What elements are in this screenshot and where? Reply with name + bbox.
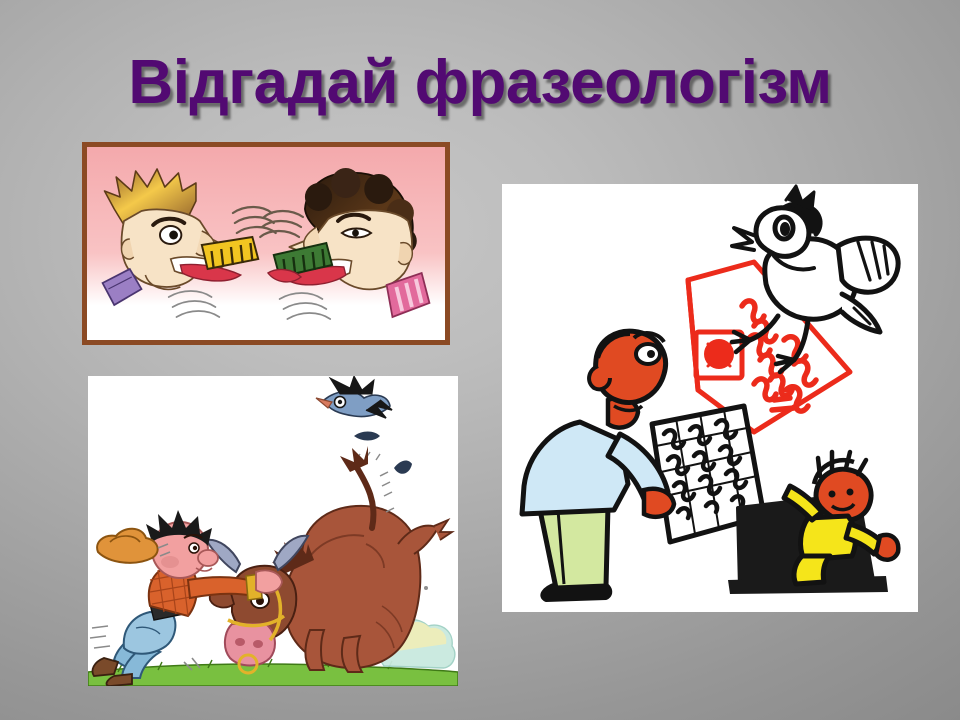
comb-picture-background: [87, 147, 445, 340]
chicken-picture-artwork: [502, 184, 918, 612]
chicken-scrawl-illustration: [502, 184, 918, 612]
boy-grabbing-bull-by-horns-illustration: [88, 376, 458, 686]
page-title: Відгадай фразеологізм: [80, 52, 880, 114]
bull-picture-artwork: [88, 376, 458, 686]
slide-canvas: Відгадай фразеологізм: [0, 0, 960, 720]
two-faces-with-combs-illustration: [82, 142, 450, 345]
comb-picture-artwork: [87, 147, 445, 340]
